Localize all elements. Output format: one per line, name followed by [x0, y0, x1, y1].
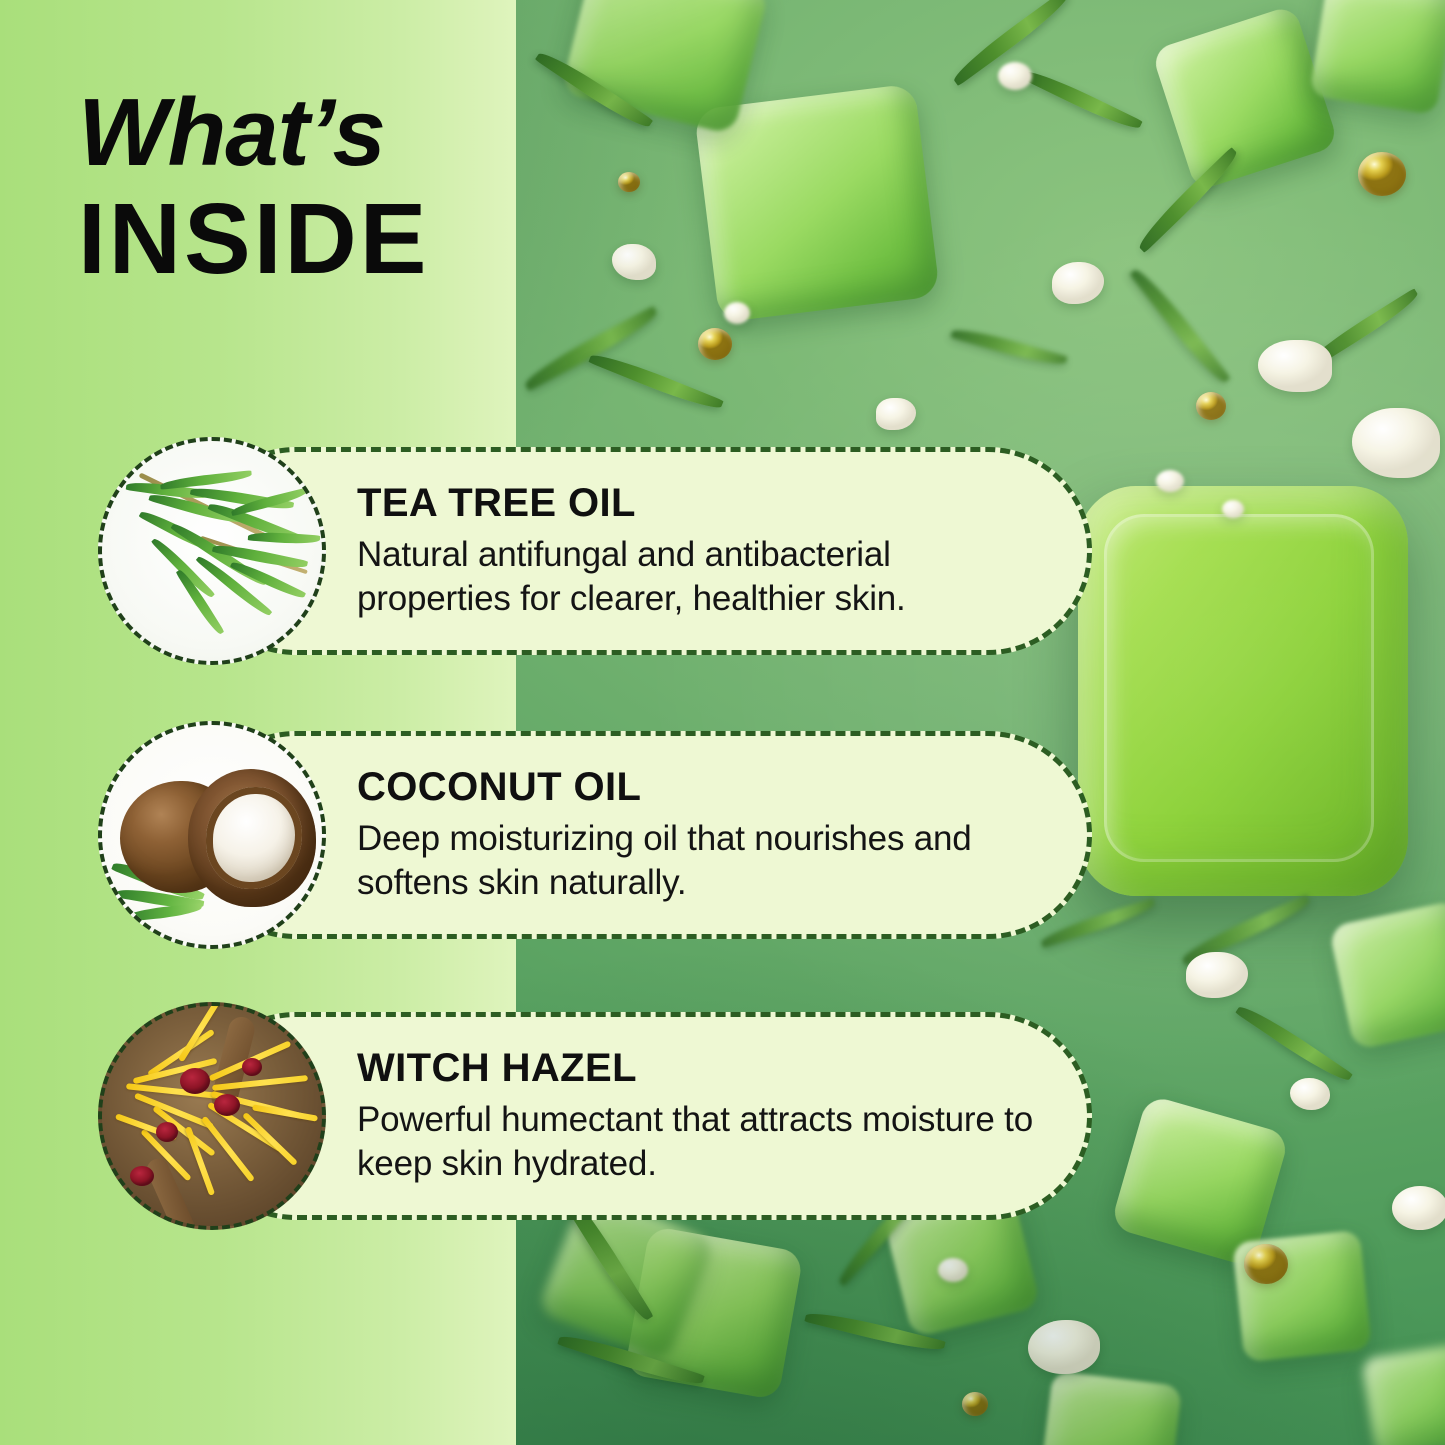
- ingredient-description: Powerful humectant that attracts moistur…: [357, 1098, 1035, 1186]
- ingredient-text-block: WITCH HAZEL Powerful humectant that attr…: [357, 1046, 1035, 1186]
- ingredient-card-tea-tree-oil[interactable]: TEA TREE OIL Natural antifungal and anti…: [192, 447, 1092, 655]
- ingredient-description: Deep moisturizing oil that nourishes and…: [357, 817, 1035, 905]
- witch-hazel-icon: [98, 1002, 326, 1230]
- ingredient-text-block: TEA TREE OIL Natural antifungal and anti…: [357, 481, 1035, 621]
- ingredient-title: COCONUT OIL: [357, 765, 1035, 809]
- witch-hazel-photo: [102, 1006, 322, 1226]
- tea-tree-photo: [102, 441, 322, 661]
- ingredient-card-witch-hazel[interactable]: WITCH HAZEL Powerful humectant that attr…: [192, 1012, 1092, 1220]
- ingredient-description: Natural antifungal and antibacterial pro…: [357, 533, 1035, 621]
- coconut-photo: [102, 725, 322, 945]
- ingredient-title: TEA TREE OIL: [357, 481, 1035, 525]
- ingredient-infographic: What’s INSIDE TEA TREE OIL Natural antif…: [0, 0, 1445, 1445]
- ingredient-card-coconut-oil[interactable]: COCONUT OIL Deep moisturizing oil that n…: [192, 731, 1092, 939]
- ingredient-text-block: COCONUT OIL Deep moisturizing oil that n…: [357, 765, 1035, 905]
- ingredient-card-list: TEA TREE OIL Natural antifungal and anti…: [0, 0, 1445, 1445]
- coconut-icon: [98, 721, 326, 949]
- ingredient-title: WITCH HAZEL: [357, 1046, 1035, 1090]
- tea-tree-sprig-icon: [98, 437, 326, 665]
